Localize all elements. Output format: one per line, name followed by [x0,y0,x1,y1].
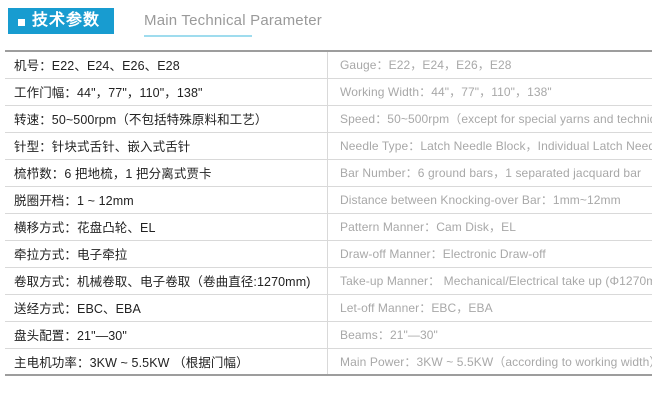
spec-label-en: Needle Type：Latch Needle Block，Individua… [328,132,653,159]
spec-label-en: Bar Number：6 ground bars，1 separated jac… [328,159,653,186]
spec-label-en: Let-off Manner：EBC，EBA [328,294,653,321]
table-row: 牵拉方式：电子牵拉 Draw-off Manner：Electronic Dra… [5,240,652,267]
table-row: 工作门幅：44"，77"，110"，138" Working Width：44"… [5,78,652,105]
spec-label-cn: 梳栉数：6 把地梳，1 把分离式贾卡 [5,159,328,186]
square-bullet-icon [18,19,25,26]
spec-label-cn: 工作门幅：44"，77"，110"，138" [5,78,328,105]
spec-label-cn: 牵拉方式：电子牵拉 [5,240,328,267]
spec-label-en: Speed：50~500rpm（except for special yarns… [328,105,653,132]
section-title-en: Main Technical Parameter [144,13,322,28]
spec-label-cn: 针型：针块式舌针、嵌入式舌针 [5,132,328,159]
table-row: 针型：针块式舌针、嵌入式舌针 Needle Type：Latch Needle … [5,132,652,159]
spec-label-en: Distance between Knocking-over Bar：1mm~1… [328,186,653,213]
spec-label-cn: 盘头配置：21"—30" [5,321,328,348]
section-title-banner: 技术参数 [8,8,114,34]
spec-label-en: Working Width：44"，77"，110"，138" [328,78,653,105]
spec-label-en: Pattern Manner：Cam Disk，EL [328,213,653,240]
spec-label-en: Beams：21"—30" [328,321,653,348]
spec-label-cn: 横移方式：花盘凸轮、EL [5,213,328,240]
table-row: 脱圈开档：1 ~ 12mm Distance between Knocking-… [5,186,652,213]
spec-label-cn: 脱圈开档：1 ~ 12mm [5,186,328,213]
spec-label-en: Draw-off Manner：Electronic Draw-off [328,240,653,267]
spec-label-cn: 转速：50~500rpm（不包括特殊原料和工艺） [5,105,328,132]
spec-label-cn: 卷取方式：机械卷取、电子卷取（卷曲直径:1270mm) [5,267,328,294]
table-row: 主电机功率：3KW ~ 5.5KW （根据门幅） Main Power：3KW … [5,348,652,375]
header-underline [144,35,252,37]
table-row: 机号：E22、E24、E26、E28 Gauge：E22，E24，E26，E28 [5,51,652,78]
technical-parameter-table: 机号：E22、E24、E26、E28 Gauge：E22，E24，E26，E28… [5,50,652,376]
table-row: 送经方式：EBC、EBA Let-off Manner：EBC，EBA [5,294,652,321]
spec-label-en: Gauge：E22，E24，E26，E28 [328,51,653,78]
table-row: 转速：50~500rpm（不包括特殊原料和工艺） Speed：50~500rpm… [5,105,652,132]
spec-label-cn: 主电机功率：3KW ~ 5.5KW （根据门幅） [5,348,328,375]
table-row: 梳栉数：6 把地梳，1 把分离式贾卡 Bar Number：6 ground b… [5,159,652,186]
table-row: 横移方式：花盘凸轮、EL Pattern Manner：Cam Disk，EL [5,213,652,240]
spec-label-en: Take-up Manner： Mechanical/Electrical ta… [328,267,653,294]
spec-label-cn: 送经方式：EBC、EBA [5,294,328,321]
table-row: 盘头配置：21"—30" Beams：21"—30" [5,321,652,348]
table-body: 机号：E22、E24、E26、E28 Gauge：E22，E24，E26，E28… [5,51,652,375]
table-row: 卷取方式：机械卷取、电子卷取（卷曲直径:1270mm) Take-up Mann… [5,267,652,294]
spec-label-en: Main Power：3KW ~ 5.5KW（according to work… [328,348,653,375]
section-title-cn: 技术参数 [32,13,100,29]
spec-label-cn: 机号：E22、E24、E26、E28 [5,51,328,78]
page-header: 技术参数 Main Technical Parameter [0,0,671,44]
